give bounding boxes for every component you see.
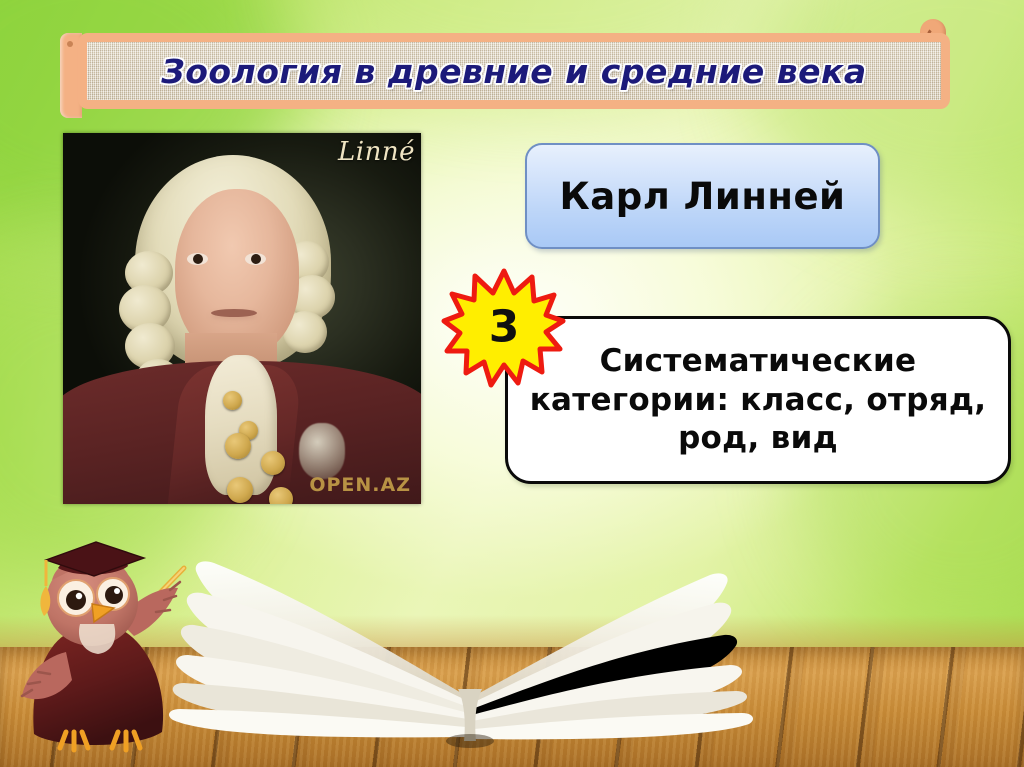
portrait-eye: [187, 253, 208, 265]
portrait-coat-button: [227, 477, 253, 503]
portrait-carl-linnaeus: Linné OPEN.AZ: [63, 133, 421, 504]
portrait-coat-button: [261, 451, 285, 475]
portrait-watermark: OPEN.AZ: [309, 474, 411, 496]
portrait-coat-button: [223, 391, 242, 410]
owl-foot: [112, 732, 140, 750]
portrait-mouth: [211, 309, 257, 317]
title-banner: Зоология в древние и средние века: [78, 33, 950, 109]
carl-linnaeus-button-label: Карл Линней: [560, 175, 846, 218]
owl-professor-mascot: [18, 524, 203, 759]
portrait-signature: Linné: [338, 137, 415, 167]
portrait-coat-button: [225, 433, 251, 459]
starburst-shape: [444, 271, 563, 385]
portrait-medal: [299, 423, 345, 479]
page-title: Зоология в древние и средние века: [161, 52, 866, 91]
slide-canvas: Зоология в древние и средние века Linné …: [0, 0, 1024, 767]
portrait-nose: [217, 251, 247, 291]
portrait-eye: [245, 253, 266, 265]
portrait-coat-button: [269, 487, 293, 504]
callout-text: Систематические категории: класс, отряд,…: [508, 342, 1008, 457]
starburst-badge: 3: [444, 269, 564, 387]
banner-frame: Зоология в древние и средние века: [78, 33, 950, 109]
systematic-categories-callout: Систематические категории: класс, отряд,…: [505, 316, 1011, 484]
carl-linnaeus-button[interactable]: Карл Линней: [525, 143, 880, 249]
owl-foot: [60, 732, 88, 750]
